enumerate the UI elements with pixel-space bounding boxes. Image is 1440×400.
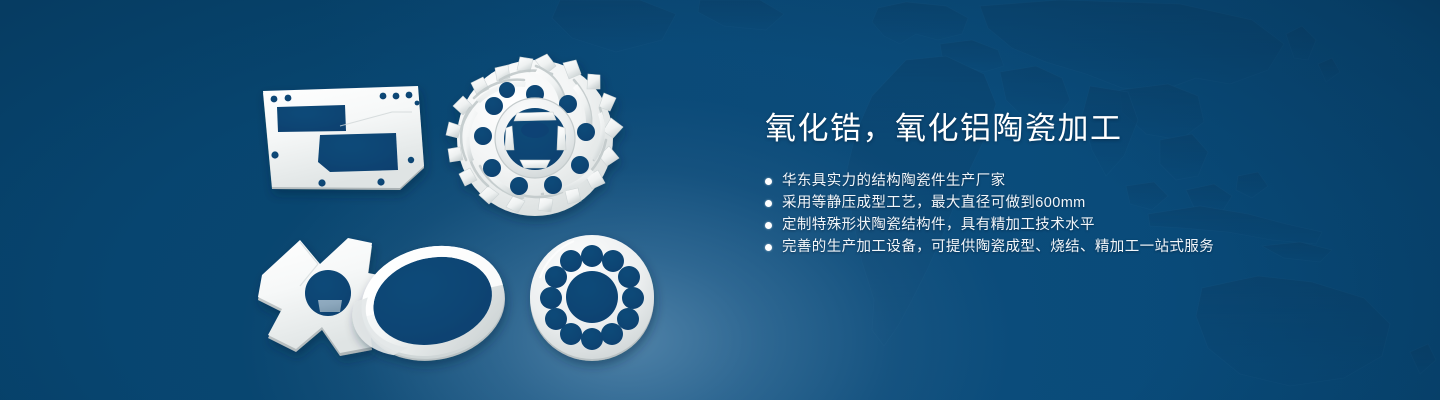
feature-text: 完善的生产加工设备，可提供陶瓷成型、烧结、精加工一站式服务 <box>782 236 1214 258</box>
feature-text: 采用等静压成型工艺，最大直径可做到600mm <box>782 192 1086 214</box>
feature-list-item: 华东具实力的结构陶瓷件生产厂家 <box>765 170 1325 192</box>
feature-list-item: 采用等静压成型工艺，最大直径可做到600mm <box>765 192 1325 214</box>
feature-list-item: 完善的生产加工设备，可提供陶瓷成型、烧结、精加工一站式服务 <box>765 236 1325 258</box>
banner-copy: 氧化锆，氧化铝陶瓷加工 华东具实力的结构陶瓷件生产厂家 采用等静压成型工艺，最大… <box>765 110 1325 258</box>
feature-text: 定制特殊形状陶瓷结构件，具有精加工技术水平 <box>782 214 1095 236</box>
bullet-dot-icon <box>765 200 772 207</box>
bullet-dot-icon <box>765 222 772 229</box>
feature-list-item: 定制特殊形状陶瓷结构件，具有精加工技术水平 <box>765 214 1325 236</box>
banner-headline: 氧化锆，氧化铝陶瓷加工 <box>765 110 1325 148</box>
hero-banner: 氧化锆，氧化铝陶瓷加工 华东具实力的结构陶瓷件生产厂家 采用等静压成型工艺，最大… <box>0 0 1440 400</box>
bullet-dot-icon <box>765 244 772 251</box>
bullet-dot-icon <box>765 178 772 185</box>
feature-text: 华东具实力的结构陶瓷件生产厂家 <box>782 170 1006 192</box>
feature-list: 华东具实力的结构陶瓷件生产厂家 采用等静压成型工艺，最大直径可做到600mm 定… <box>765 170 1325 258</box>
